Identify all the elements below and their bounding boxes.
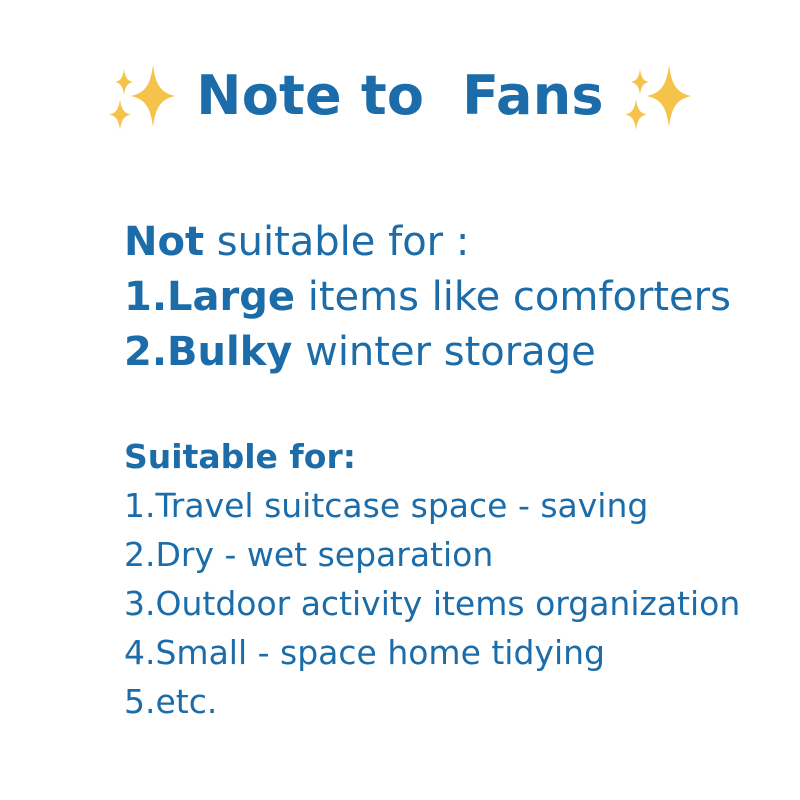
sparkles-icon — [624, 57, 692, 135]
not-suitable-item-bold: 2.Bulky — [124, 329, 292, 375]
suitable-item: 2.Dry - wet separation — [124, 530, 740, 579]
not-suitable-item: 1.Large items like comforters — [124, 270, 731, 325]
not-suitable-section: Not suitable for : 1.Large items like co… — [124, 215, 731, 380]
suitable-heading: Suitable for: — [124, 432, 740, 481]
not-suitable-heading-rest: suitable for : — [204, 219, 469, 265]
page-title-row: Note to Fans — [0, 57, 800, 135]
suitable-item: 1.Travel suitcase space - saving — [124, 481, 740, 530]
not-suitable-item-bold: 1.Large — [124, 274, 295, 320]
page-title: Note to Fans — [196, 68, 603, 125]
poster-canvas: Note to Fans Not suitable for : 1.Large … — [0, 0, 800, 800]
not-suitable-item: 2.Bulky winter storage — [124, 325, 731, 380]
not-suitable-heading: Not suitable for : — [124, 215, 731, 270]
suitable-item: 3.Outdoor activity items organization — [124, 579, 740, 628]
suitable-item: 4.Small - space home tidying — [124, 628, 740, 677]
not-suitable-heading-bold: Not — [124, 219, 204, 265]
suitable-section: Suitable for: 1.Travel suitcase space - … — [124, 432, 740, 726]
not-suitable-item-rest: winter storage — [292, 329, 595, 375]
suitable-item: 5.etc. — [124, 677, 740, 726]
sparkles-icon — [108, 57, 176, 135]
not-suitable-item-rest: items like comforters — [295, 274, 731, 320]
